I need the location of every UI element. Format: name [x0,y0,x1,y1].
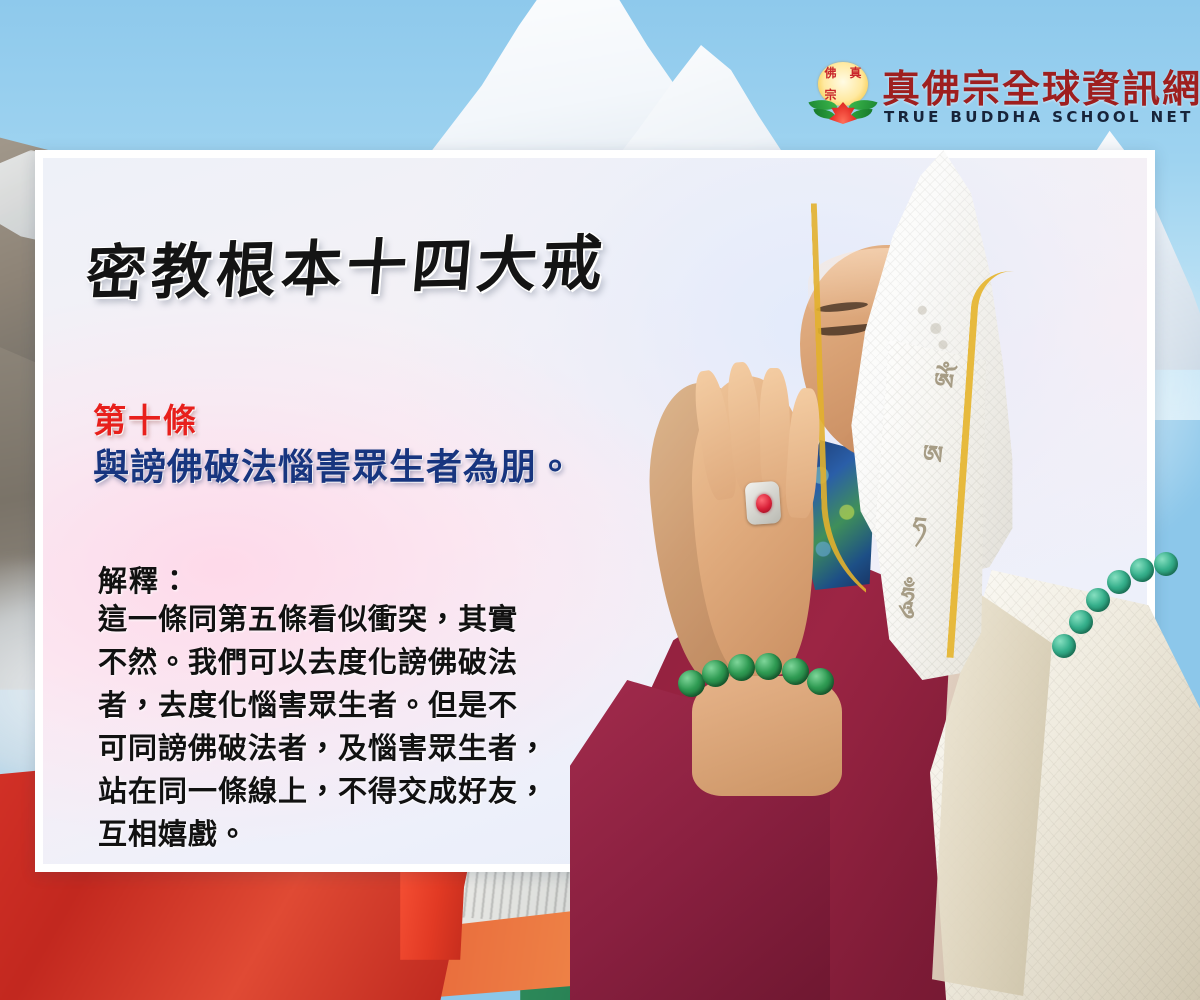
explanation-line: 這一條同第五條看似衝突，其實 [98,598,623,641]
clause-number: 第十條 [93,394,198,442]
explanation-line: 互相嬉戲。 [98,813,623,856]
explanation-line: 者，去度化惱害眾生者。但是不 [98,684,623,727]
logo-english-name: TRUE BUDDHA SCHOOL NET [884,108,1194,126]
clause-text: 與謗佛破法惱害眾生者為朋。 [93,438,574,490]
explanation-line: 不然。我們可以去度化謗佛破法 [98,641,623,684]
lotus-emblem-icon: 真 佛 宗 [812,62,874,132]
explanation-body: 這一條同第五條看似衝突，其實 不然。我們可以去度化謗佛破法 者，去度化惱害眾生者… [98,598,623,856]
site-logo[interactable]: 真 佛 宗 真佛宗全球資訊網 TRUE BUDDHA SCHOOL NET [812,62,1162,142]
logo-chinese-name: 真佛宗全球資訊網 [882,58,1200,113]
emblem-char: 真 [849,67,861,79]
explanation-line: 可同謗佛破法者，及惱害眾生者， [98,727,623,770]
emblem-char: 佛 [824,67,836,79]
explanation-line: 站在同一條線上，不得交成好友， [98,770,623,813]
ruby-ring-stone-icon [756,494,772,513]
jade-bracelet [678,652,848,706]
guru-portrait: ༀ ཨ ཧ ཧཱུྃ [600,140,1200,1000]
explanation-label: 解釋： [98,558,191,600]
anjali-hands [648,376,868,706]
page-title: 密教根本十四大戒 [83,215,611,313]
poster-canvas: 密教根本十四大戒 第十條 與謗佛破法惱害眾生者為朋。 解釋： 這一條同第五條看似… [0,0,1200,1000]
jade-mala [1052,538,1182,678]
